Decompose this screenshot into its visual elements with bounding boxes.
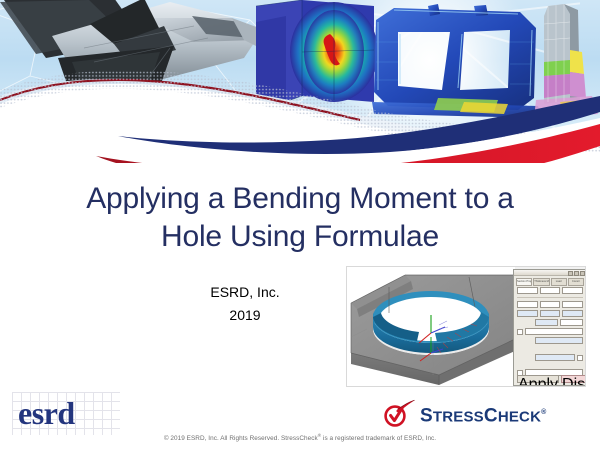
dialog-checkbox[interactable] bbox=[517, 329, 523, 335]
dialog-select-1[interactable] bbox=[517, 310, 538, 317]
dialog-tab-thickness-material[interactable]: Thickness Material bbox=[533, 278, 549, 286]
stresscheck-logo: STRESSCHECK® bbox=[382, 399, 578, 429]
stresscheck-registered: ® bbox=[541, 409, 546, 416]
dialog-tabs[interactable]: Section Prop Thickness Material Load Con… bbox=[514, 276, 585, 286]
dialog-tab-section-prop[interactable]: Section Prop bbox=[516, 278, 532, 286]
slide-title: Applying a Bending Moment to a Hole Usin… bbox=[30, 180, 570, 257]
dialog-system-value[interactable] bbox=[535, 354, 575, 361]
slide-subtitle: ESRD, Inc. 2019 bbox=[150, 281, 340, 326]
footer-copyright: © 2019 ESRD, Inc. All Rights Reserved. S… bbox=[0, 433, 600, 442]
total-load-dialog[interactable]: Section Prop Thickness Material Load Con… bbox=[513, 269, 585, 386]
dialog-system-btn[interactable] bbox=[577, 355, 583, 361]
wave-swoosh-graphic bbox=[0, 0, 600, 166]
dialog-type-extra[interactable] bbox=[560, 319, 583, 326]
dialog-row-subtabs[interactable] bbox=[514, 286, 585, 295]
dialog-subtab-1[interactable] bbox=[517, 287, 538, 294]
title-line-2: Hole Using Formulae bbox=[30, 218, 570, 256]
dialog-checkbox-field[interactable] bbox=[525, 328, 583, 335]
stresscheck-checkmark-icon bbox=[382, 399, 416, 427]
esrd-logo: esrd bbox=[12, 392, 120, 435]
title-line-1: Applying a Bending Moment to a bbox=[86, 182, 514, 215]
dialog-type-value[interactable] bbox=[535, 319, 558, 326]
figure-screenshot: Section Prop Thickness Material Load Con… bbox=[347, 267, 585, 386]
dialog-row-headers bbox=[514, 300, 585, 309]
dialog-row-type[interactable] bbox=[514, 318, 585, 327]
stresscheck-tress: TRESS bbox=[433, 408, 484, 425]
dialog-buttons[interactable]: Apply Display Delete Close bbox=[514, 375, 585, 383]
subtitle-year: 2019 bbox=[150, 304, 340, 327]
dialog-tab-constraint[interactable]: Constr bbox=[568, 278, 584, 286]
dialog-titlebar[interactable] bbox=[514, 270, 585, 276]
stresscheck-s: S bbox=[420, 405, 433, 426]
esrd-logo-text: esrd bbox=[18, 397, 114, 430]
dialog-select-2[interactable] bbox=[540, 310, 561, 317]
dialog-tab-load[interactable]: Load bbox=[551, 278, 567, 286]
hole-model-icon bbox=[347, 267, 515, 386]
dialog-col-2 bbox=[540, 301, 561, 308]
dialog-row-system[interactable] bbox=[514, 353, 585, 362]
stresscheck-c: C bbox=[484, 405, 498, 426]
header-banner bbox=[0, 0, 600, 166]
stresscheck-wordmark: STRESSCHECK® bbox=[420, 402, 546, 427]
footer-text-before: © 2019 ESRD, Inc. All Rights Reserved. S… bbox=[164, 435, 318, 442]
dialog-row-checkbox[interactable] bbox=[514, 327, 585, 336]
dialog-row-selectors[interactable] bbox=[514, 309, 585, 318]
dialog-separator bbox=[517, 297, 583, 298]
dialog-subtab-3[interactable] bbox=[562, 287, 583, 294]
presentation-slide: Applying a Bending Moment to a Hole Usin… bbox=[0, 0, 600, 450]
footer-text-after: is a registered trademark of ESRD, Inc. bbox=[321, 435, 436, 442]
dialog-button-apply[interactable]: Apply bbox=[517, 375, 559, 383]
subtitle-author: ESRD, Inc. bbox=[150, 281, 340, 304]
dialog-button-display[interactable]: Display bbox=[561, 375, 585, 383]
dialog-subtab-2[interactable] bbox=[540, 287, 561, 294]
dialog-select-3[interactable] bbox=[562, 310, 583, 317]
dialog-direction-value[interactable] bbox=[535, 337, 583, 344]
dialog-window-buttons[interactable] bbox=[568, 271, 585, 276]
dialog-col-3 bbox=[562, 301, 583, 308]
dialog-row-direction[interactable] bbox=[514, 336, 585, 345]
stresscheck-heck: HECK bbox=[498, 408, 541, 425]
dialog-col-1 bbox=[517, 301, 538, 308]
